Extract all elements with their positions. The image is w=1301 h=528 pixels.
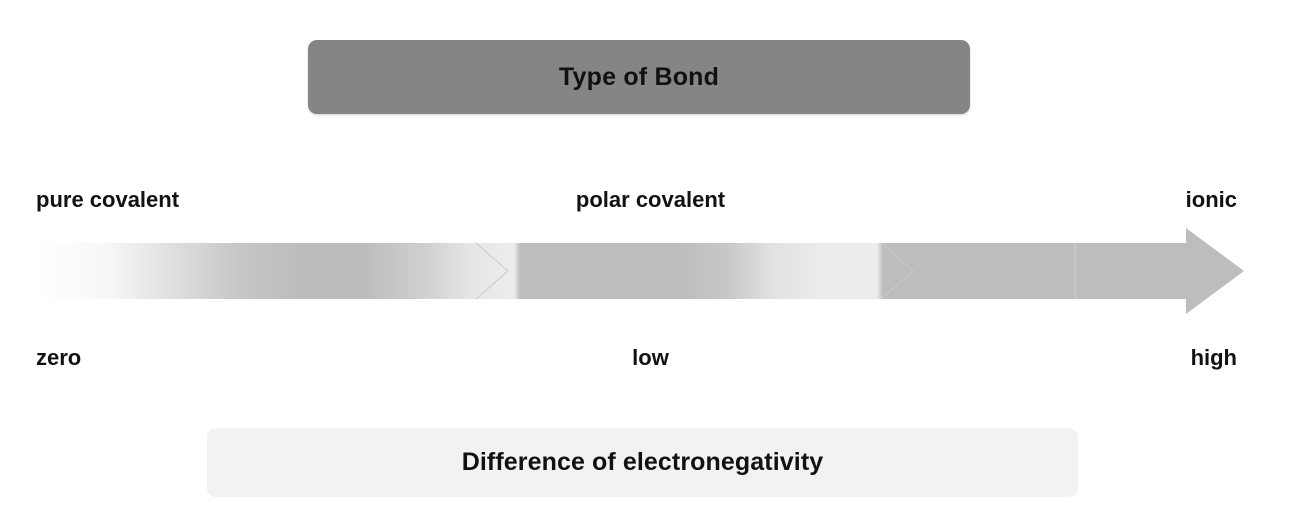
electronegativity-footer-bar: Difference of electronegativity xyxy=(207,428,1078,497)
electronegativity-footer-label: Difference of electronegativity xyxy=(462,448,824,477)
gradient-arrow-svg xyxy=(36,226,1246,316)
arrow-gradient-fill xyxy=(36,226,1246,316)
arrow-body xyxy=(36,226,1246,316)
type-of-bond-header-label: Type of Bond xyxy=(559,63,719,92)
type-of-bond-header-bar: Type of Bond xyxy=(308,40,970,114)
bottom-label-low: low xyxy=(0,343,1301,373)
bond-type-diagram: Type of Bond pure covalent polar covalen… xyxy=(0,0,1301,528)
bottom-label-high: high xyxy=(1191,343,1237,373)
top-label-polar-covalent: polar covalent xyxy=(0,185,1301,215)
electronegativity-arrow xyxy=(36,226,1246,316)
top-label-row: pure covalent polar covalent ionic xyxy=(0,185,1301,215)
arrow-segment-divider xyxy=(1074,243,1076,299)
bottom-label-row: zero low high xyxy=(0,343,1301,373)
top-label-ionic: ionic xyxy=(1186,185,1237,215)
